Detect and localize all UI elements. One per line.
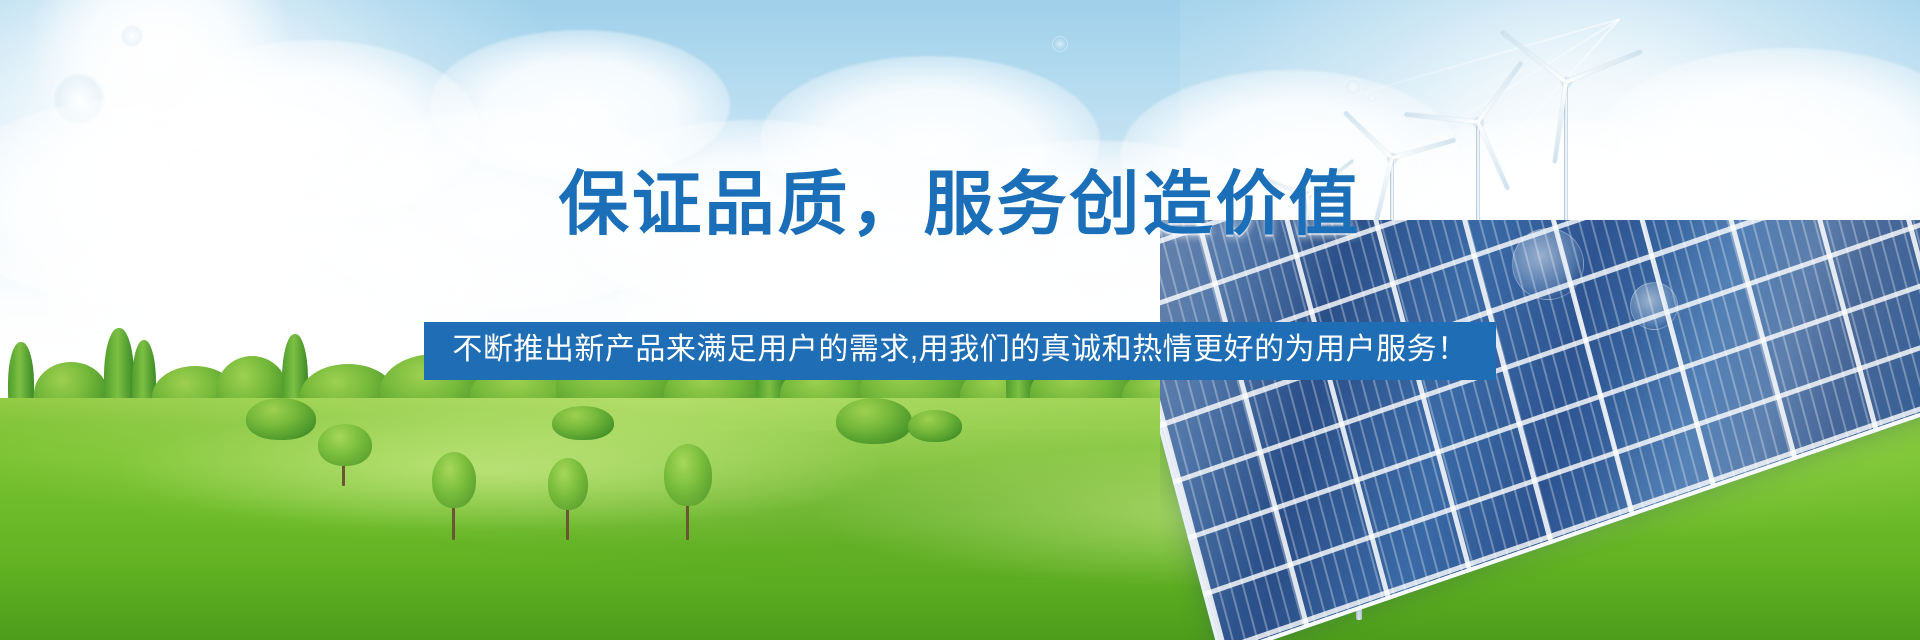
lens-flare-dot: [1052, 36, 1068, 52]
bush: [836, 398, 912, 444]
solar-panel-array: [1160, 220, 1920, 640]
bush: [246, 398, 316, 440]
subtitle-container: 不断推出新产品来满足用户的需求,用我们的真诚和热情更好的为用户服务！: [0, 322, 1920, 380]
grass-highlight: [120, 410, 880, 530]
turbine-blade: [1343, 111, 1393, 160]
turbine-blade: [1476, 61, 1523, 123]
sapling-crown: [432, 452, 476, 508]
bush: [908, 410, 962, 442]
hero-banner: 保证品质，服务创造价值 不断推出新产品来满足用户的需求,用我们的真诚和热情更好的…: [0, 0, 1920, 640]
bush: [552, 406, 614, 440]
sapling-crown: [548, 458, 588, 510]
lens-flare-dot: [120, 24, 144, 48]
sapling-crown: [664, 444, 712, 506]
subtitle-banner: 不断推出新产品来满足用户的需求,用我们的真诚和热情更好的为用户服务！: [424, 322, 1495, 380]
turbine-blade: [1404, 112, 1478, 124]
sapling-crown: [318, 424, 372, 466]
turbine-blade: [1391, 138, 1456, 160]
page-title: 保证品质，服务创造价值: [0, 166, 1920, 242]
